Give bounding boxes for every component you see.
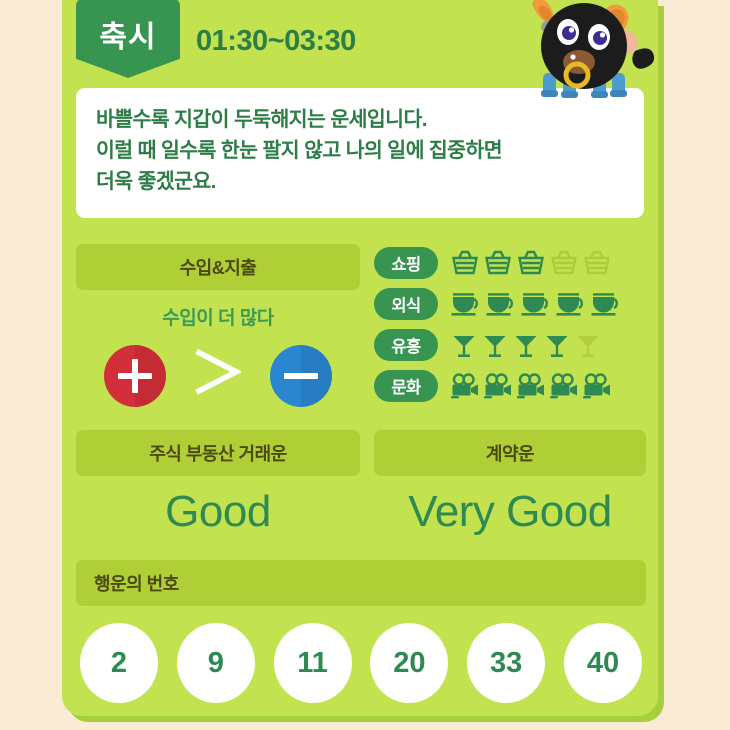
coffee-cup-icon bbox=[485, 291, 517, 317]
rating-row-shopping: 쇼핑 bbox=[374, 246, 646, 280]
rating-row-culture: 문화 bbox=[374, 369, 646, 403]
rating-icons-shopping bbox=[450, 249, 612, 277]
cocktail-glass-icon bbox=[481, 331, 509, 359]
lucky-numbers-header: 행운의 번호 bbox=[76, 560, 646, 606]
card-body: 축시 01:30~03:30 바쁠수록 지갑이 두둑해지는 운세입니다. 이럴 … bbox=[62, 0, 658, 716]
income-expense-header-label: 수입&지출 bbox=[180, 254, 257, 280]
minus-bar-h bbox=[284, 373, 318, 379]
coffee-cup-icon bbox=[555, 291, 587, 317]
fortune-text-box: 바쁠수록 지갑이 두둑해지는 운세입니다. 이럴 때 일수록 한눈 팔지 않고 … bbox=[76, 88, 644, 218]
lucky-number-ball: 40 bbox=[564, 623, 642, 703]
shopping-basket-icon-empty bbox=[582, 249, 612, 277]
lucky-number-ball: 9 bbox=[177, 623, 255, 703]
movie-camera-icon bbox=[582, 373, 612, 399]
rating-label-shopping: 쇼핑 bbox=[374, 247, 438, 279]
rating-icons-culture bbox=[450, 373, 612, 399]
shopping-basket-icon bbox=[516, 249, 546, 277]
rating-icons-dining bbox=[450, 291, 622, 317]
plus-circle-icon bbox=[104, 345, 166, 407]
movie-camera-icon bbox=[450, 373, 480, 399]
coffee-cup-icon bbox=[520, 291, 552, 317]
shopping-basket-icon bbox=[483, 249, 513, 277]
lucky-number-ball: 20 bbox=[370, 623, 448, 703]
shopping-basket-icon bbox=[450, 249, 480, 277]
cocktail-glass-icon-empty bbox=[574, 331, 602, 359]
rating-row-entertainment: 유흥 bbox=[374, 328, 646, 362]
rating-label-dining: 외식 bbox=[374, 288, 438, 320]
stock-realestate-header: 주식 부동산 거래운 bbox=[76, 430, 360, 476]
stock-realestate-value: Good bbox=[76, 487, 360, 537]
coffee-cup-icon bbox=[590, 291, 622, 317]
income-expense-subtitle: 수입이 더 많다 bbox=[76, 303, 360, 330]
lucky-number-ball: 2 bbox=[80, 623, 158, 703]
time-range-label: 01:30~03:30 bbox=[196, 25, 356, 58]
rating-row-dining: 외식 bbox=[374, 287, 646, 321]
rating-label-entertainment: 유흥 bbox=[374, 329, 438, 361]
cocktail-glass-icon bbox=[512, 331, 540, 359]
hour-badge-label: 축시 bbox=[99, 12, 156, 56]
coffee-cup-icon bbox=[450, 291, 482, 317]
fortune-card: 축시 01:30~03:30 바쁠수록 지갑이 두둑해지는 운세입니다. 이럴 … bbox=[62, 0, 658, 722]
lucky-number-ball: 11 bbox=[274, 623, 352, 703]
rating-label-culture: 문화 bbox=[374, 370, 438, 402]
movie-camera-icon bbox=[483, 373, 513, 399]
fortune-line: 더욱 좋겠군요. bbox=[96, 166, 626, 197]
lucky-numbers-row: 2 9 11 20 33 40 bbox=[76, 622, 646, 704]
plus-bar-v bbox=[132, 359, 138, 393]
lucky-number-ball: 33 bbox=[467, 623, 545, 703]
income-expense-icons: ＞ bbox=[76, 344, 360, 408]
movie-camera-icon bbox=[549, 373, 579, 399]
fortune-line: 이럴 때 일수록 한눈 팔지 않고 나의 일에 집중하면 bbox=[96, 135, 626, 166]
cocktail-glass-icon bbox=[543, 331, 571, 359]
greater-than-icon: ＞ bbox=[190, 349, 246, 399]
income-expense-header: 수입&지출 bbox=[76, 244, 360, 290]
minus-circle-icon bbox=[270, 345, 332, 407]
rating-icons-entertainment bbox=[450, 331, 602, 359]
fortune-line: 바쁠수록 지갑이 두둑해지는 운세입니다. bbox=[96, 104, 626, 135]
shopping-basket-icon-empty bbox=[549, 249, 579, 277]
hour-badge: 축시 bbox=[76, 0, 180, 78]
contract-luck-value: Very Good bbox=[374, 487, 646, 537]
lucky-numbers-header-label: 행운의 번호 bbox=[94, 570, 179, 596]
cocktail-glass-icon bbox=[450, 331, 478, 359]
stock-realestate-header-label: 주식 부동산 거래운 bbox=[149, 440, 286, 466]
ox-mascot-icon bbox=[507, 0, 662, 101]
contract-luck-header-label: 계약운 bbox=[486, 440, 534, 466]
contract-luck-header: 계약운 bbox=[374, 430, 646, 476]
spending-ratings: 쇼핑 외식 유흥 bbox=[374, 246, 646, 410]
movie-camera-icon bbox=[516, 373, 546, 399]
